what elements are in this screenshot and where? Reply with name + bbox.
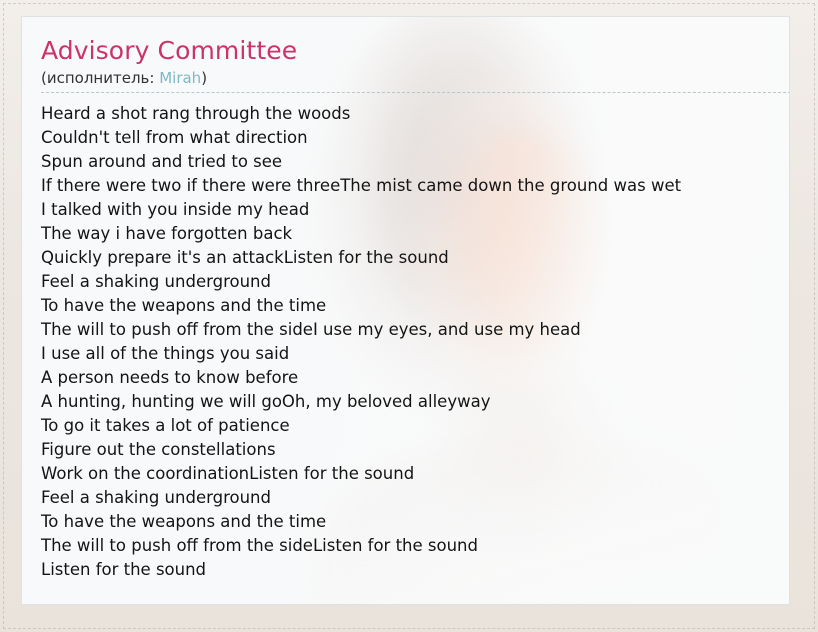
lyric-line: To have the weapons and the time bbox=[41, 294, 789, 318]
lyric-line: If there were two if there were threeThe… bbox=[41, 174, 789, 198]
artist-line: (исполнитель: Mirah) bbox=[41, 68, 789, 88]
lyrics-text: Heard a shot rang through the woodsCould… bbox=[41, 102, 789, 582]
song-title: Advisory Committee bbox=[41, 36, 789, 66]
lyric-line: I use all of the things you said bbox=[41, 342, 789, 366]
card-body: Advisory Committee (исполнитель: Mirah) … bbox=[22, 17, 789, 582]
lyric-line: A hunting, hunting we will goOh, my belo… bbox=[41, 390, 789, 414]
lyric-line: Spun around and tried to see bbox=[41, 150, 789, 174]
lyric-line: Quickly prepare it's an attackListen for… bbox=[41, 246, 789, 270]
lyric-line: To go it takes a lot of patience bbox=[41, 414, 789, 438]
lyric-line: Listen for the sound bbox=[41, 558, 789, 582]
artist-suffix-label: ) bbox=[201, 69, 207, 87]
lyric-line: Feel a shaking underground bbox=[41, 270, 789, 294]
lyric-line: The will to push off from the sideI use … bbox=[41, 318, 789, 342]
lyric-line: Work on the coordinationListen for the s… bbox=[41, 462, 789, 486]
lyric-line: A person needs to know before bbox=[41, 366, 789, 390]
lyric-line: The will to push off from the sideListen… bbox=[41, 534, 789, 558]
lyric-line: Couldn't tell from what direction bbox=[41, 126, 789, 150]
lyric-line: The way i have forgotten back bbox=[41, 222, 789, 246]
page-frame: Advisory Committee (исполнитель: Mirah) … bbox=[0, 0, 818, 632]
lyrics-card: Advisory Committee (исполнитель: Mirah) … bbox=[21, 16, 790, 605]
lyric-line: To have the weapons and the time bbox=[41, 510, 789, 534]
lyric-line: Figure out the constellations bbox=[41, 438, 789, 462]
lyric-line: I talked with you inside my head bbox=[41, 198, 789, 222]
lyric-line: Heard a shot rang through the woods bbox=[41, 102, 789, 126]
artist-link[interactable]: Mirah bbox=[159, 69, 201, 87]
lyric-line: Feel a shaking underground bbox=[41, 486, 789, 510]
header-divider bbox=[41, 92, 790, 93]
artist-prefix-label: (исполнитель: bbox=[41, 69, 159, 87]
